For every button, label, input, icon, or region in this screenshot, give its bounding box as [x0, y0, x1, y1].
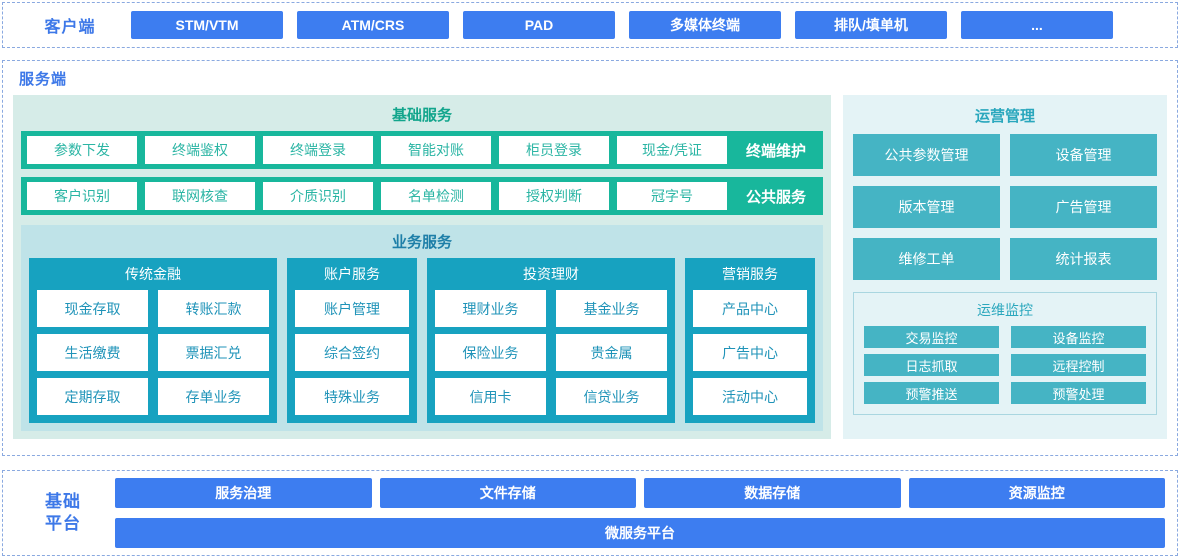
business-items-marketing-service: 产品中心 广告中心 活动中心: [693, 290, 807, 415]
business-column-title-account-service: 账户服务: [295, 263, 409, 290]
platform-content: 服务治理 文件存储 数据存储 资源监控 微服务平台: [115, 478, 1169, 548]
client-terminal-atm-crs[interactable]: ATM/CRS: [297, 11, 449, 39]
mon-chip-alert-handling[interactable]: 预警处理: [1011, 382, 1146, 404]
basic-chip-cash-voucher[interactable]: 现金/凭证: [617, 136, 727, 164]
ops-chip-public-parameter-management[interactable]: 公共参数管理: [853, 134, 1000, 176]
client-terminal-pad[interactable]: PAD: [463, 11, 615, 39]
business-column-title-marketing-service: 营销服务: [693, 263, 807, 290]
operations-items: 公共参数管理 设备管理 版本管理 广告管理 维修工单 统计报表: [853, 134, 1157, 280]
basic-chip-teller-login[interactable]: 柜员登录: [499, 136, 609, 164]
ops-chip-device-management[interactable]: 设备管理: [1010, 134, 1157, 176]
basic-services-title: 基础服务: [21, 101, 823, 131]
platform-layer-title-line2: 平台: [11, 513, 115, 535]
basic-chip-smart-reconcile[interactable]: 智能对账: [381, 136, 491, 164]
basic-chip-crown-number[interactable]: 冠字号: [617, 182, 727, 210]
basic-chip-authorization[interactable]: 授权判断: [499, 182, 609, 210]
ops-chip-version-management[interactable]: 版本管理: [853, 186, 1000, 228]
architecture-diagram: 客户端 STM/VTM ATM/CRS PAD 多媒体终端 排队/填单机 ...…: [0, 0, 1180, 560]
biz-chip-comprehensive-signing[interactable]: 综合签约: [295, 334, 409, 371]
business-column-account-service: 账户服务 账户管理 综合签约 特殊业务: [287, 258, 417, 423]
biz-chip-product-center[interactable]: 产品中心: [693, 290, 807, 327]
biz-chip-transfer-remittance[interactable]: 转账汇款: [158, 290, 269, 327]
mon-chip-log-capture[interactable]: 日志抓取: [864, 354, 999, 376]
ops-chip-advertising-management[interactable]: 广告管理: [1010, 186, 1157, 228]
operations-management-panel: 运营管理 公共参数管理 设备管理 版本管理 广告管理 维修工单 统计报表 运维监…: [843, 95, 1167, 439]
biz-chip-cash-deposit-withdraw[interactable]: 现金存取: [37, 290, 148, 327]
business-services-panel: 业务服务 传统金融 现金存取 转账汇款 生活缴费 票据汇兑 定期存取 存单业务: [21, 225, 823, 431]
biz-chip-wealth-management[interactable]: 理财业务: [435, 290, 546, 327]
client-terminal-list: STM/VTM ATM/CRS PAD 多媒体终端 排队/填单机 ...: [131, 11, 1113, 39]
basic-chip-list-check[interactable]: 名单检测: [381, 182, 491, 210]
platform-capability-row: 服务治理 文件存储 数据存储 资源监控: [115, 478, 1165, 508]
client-terminal-stm-vtm[interactable]: STM/VTM: [131, 11, 283, 39]
platform-chip-service-governance[interactable]: 服务治理: [115, 478, 372, 508]
basic-chip-param-dispatch[interactable]: 参数下发: [27, 136, 137, 164]
biz-chip-special-business[interactable]: 特殊业务: [295, 378, 409, 415]
business-column-title-investment-finance: 投资理财: [435, 263, 667, 290]
business-column-marketing-service: 营销服务 产品中心 广告中心 活动中心: [685, 258, 815, 423]
biz-chip-credit-card[interactable]: 信用卡: [435, 378, 546, 415]
platform-layer-band: 基础 平台 服务治理 文件存储 数据存储 资源监控 微服务平台: [2, 470, 1178, 556]
client-layer-title: 客户端: [9, 13, 131, 37]
mon-chip-alert-push[interactable]: 预警推送: [864, 382, 999, 404]
basic-services-row-tag-public-service: 公共服务: [735, 186, 817, 207]
biz-chip-advertising-center[interactable]: 广告中心: [693, 334, 807, 371]
platform-microservice-row: 微服务平台: [115, 518, 1165, 548]
biz-chip-bill-exchange[interactable]: 票据汇兑: [158, 334, 269, 371]
operations-monitoring-items: 交易监控 设备监控 日志抓取 远程控制 预警推送 预警处理: [864, 326, 1146, 404]
operations-monitoring-title: 运维监控: [864, 298, 1146, 326]
platform-chip-microservice-platform[interactable]: 微服务平台: [115, 518, 1165, 548]
biz-chip-credit-business[interactable]: 信贷业务: [556, 378, 667, 415]
basic-services-row-tag-terminal-maintenance: 终端维护: [735, 140, 817, 161]
biz-chip-fixed-deposit[interactable]: 定期存取: [37, 378, 148, 415]
business-services-columns: 传统金融 现金存取 转账汇款 生活缴费 票据汇兑 定期存取 存单业务: [29, 258, 815, 423]
server-layer-title: 服务端: [19, 68, 1167, 89]
biz-chip-insurance-business[interactable]: 保险业务: [435, 334, 546, 371]
client-terminal-queue-form[interactable]: 排队/填单机: [795, 11, 947, 39]
biz-chip-certificate-deposit[interactable]: 存单业务: [158, 378, 269, 415]
business-column-title-traditional-finance: 传统金融: [37, 263, 269, 290]
operations-management-title: 运营管理: [853, 101, 1157, 134]
mon-chip-transaction-monitoring[interactable]: 交易监控: [864, 326, 999, 348]
basic-chip-media-identify[interactable]: 介质识别: [263, 182, 373, 210]
basic-chip-terminal-login[interactable]: 终端登录: [263, 136, 373, 164]
platform-layer-title-line1: 基础: [11, 491, 115, 513]
mon-chip-remote-control[interactable]: 远程控制: [1011, 354, 1146, 376]
business-column-investment-finance: 投资理财 理财业务 基金业务 保险业务 贵金属 信用卡 信贷业务: [427, 258, 675, 423]
business-column-traditional-finance: 传统金融 现金存取 转账汇款 生活缴费 票据汇兑 定期存取 存单业务: [29, 258, 277, 423]
biz-chip-living-payment[interactable]: 生活缴费: [37, 334, 148, 371]
basic-chip-customer-identify[interactable]: 客户识别: [27, 182, 137, 210]
business-services-title: 业务服务: [29, 229, 815, 258]
biz-chip-activity-center[interactable]: 活动中心: [693, 378, 807, 415]
basic-chip-network-verify[interactable]: 联网核查: [145, 182, 255, 210]
platform-chip-resource-monitoring[interactable]: 资源监控: [909, 478, 1166, 508]
mon-chip-device-monitoring[interactable]: 设备监控: [1011, 326, 1146, 348]
client-terminal-multimedia[interactable]: 多媒体终端: [629, 11, 781, 39]
client-layer-band: 客户端 STM/VTM ATM/CRS PAD 多媒体终端 排队/填单机 ...: [2, 2, 1178, 48]
platform-chip-file-storage[interactable]: 文件存储: [380, 478, 637, 508]
server-layer-band: 服务端 基础服务 参数下发 终端鉴权 终端登录 智能对账 柜员登录 现金/凭证 …: [2, 60, 1178, 456]
business-items-investment-finance: 理财业务 基金业务 保险业务 贵金属 信用卡 信贷业务: [435, 290, 667, 415]
platform-layer-title: 基础 平台: [11, 491, 115, 535]
services-panel: 基础服务 参数下发 终端鉴权 终端登录 智能对账 柜员登录 现金/凭证 终端维护…: [13, 95, 831, 439]
basic-services-row-public-service: 客户识别 联网核查 介质识别 名单检测 授权判断 冠字号 公共服务: [21, 177, 823, 215]
client-terminal-more[interactable]: ...: [961, 11, 1113, 39]
business-items-traditional-finance: 现金存取 转账汇款 生活缴费 票据汇兑 定期存取 存单业务: [37, 290, 269, 415]
biz-chip-precious-metals[interactable]: 贵金属: [556, 334, 667, 371]
platform-chip-data-storage[interactable]: 数据存储: [644, 478, 901, 508]
ops-chip-repair-work-order[interactable]: 维修工单: [853, 238, 1000, 280]
biz-chip-account-management[interactable]: 账户管理: [295, 290, 409, 327]
biz-chip-fund-business[interactable]: 基金业务: [556, 290, 667, 327]
operations-monitoring-box: 运维监控 交易监控 设备监控 日志抓取 远程控制 预警推送 预警处理: [853, 292, 1157, 415]
basic-chip-terminal-auth[interactable]: 终端鉴权: [145, 136, 255, 164]
server-columns: 基础服务 参数下发 终端鉴权 终端登录 智能对账 柜员登录 现金/凭证 终端维护…: [13, 95, 1167, 439]
basic-services-row-terminal-maintenance: 参数下发 终端鉴权 终端登录 智能对账 柜员登录 现金/凭证 终端维护: [21, 131, 823, 169]
ops-chip-statistical-report[interactable]: 统计报表: [1010, 238, 1157, 280]
business-items-account-service: 账户管理 综合签约 特殊业务: [295, 290, 409, 415]
